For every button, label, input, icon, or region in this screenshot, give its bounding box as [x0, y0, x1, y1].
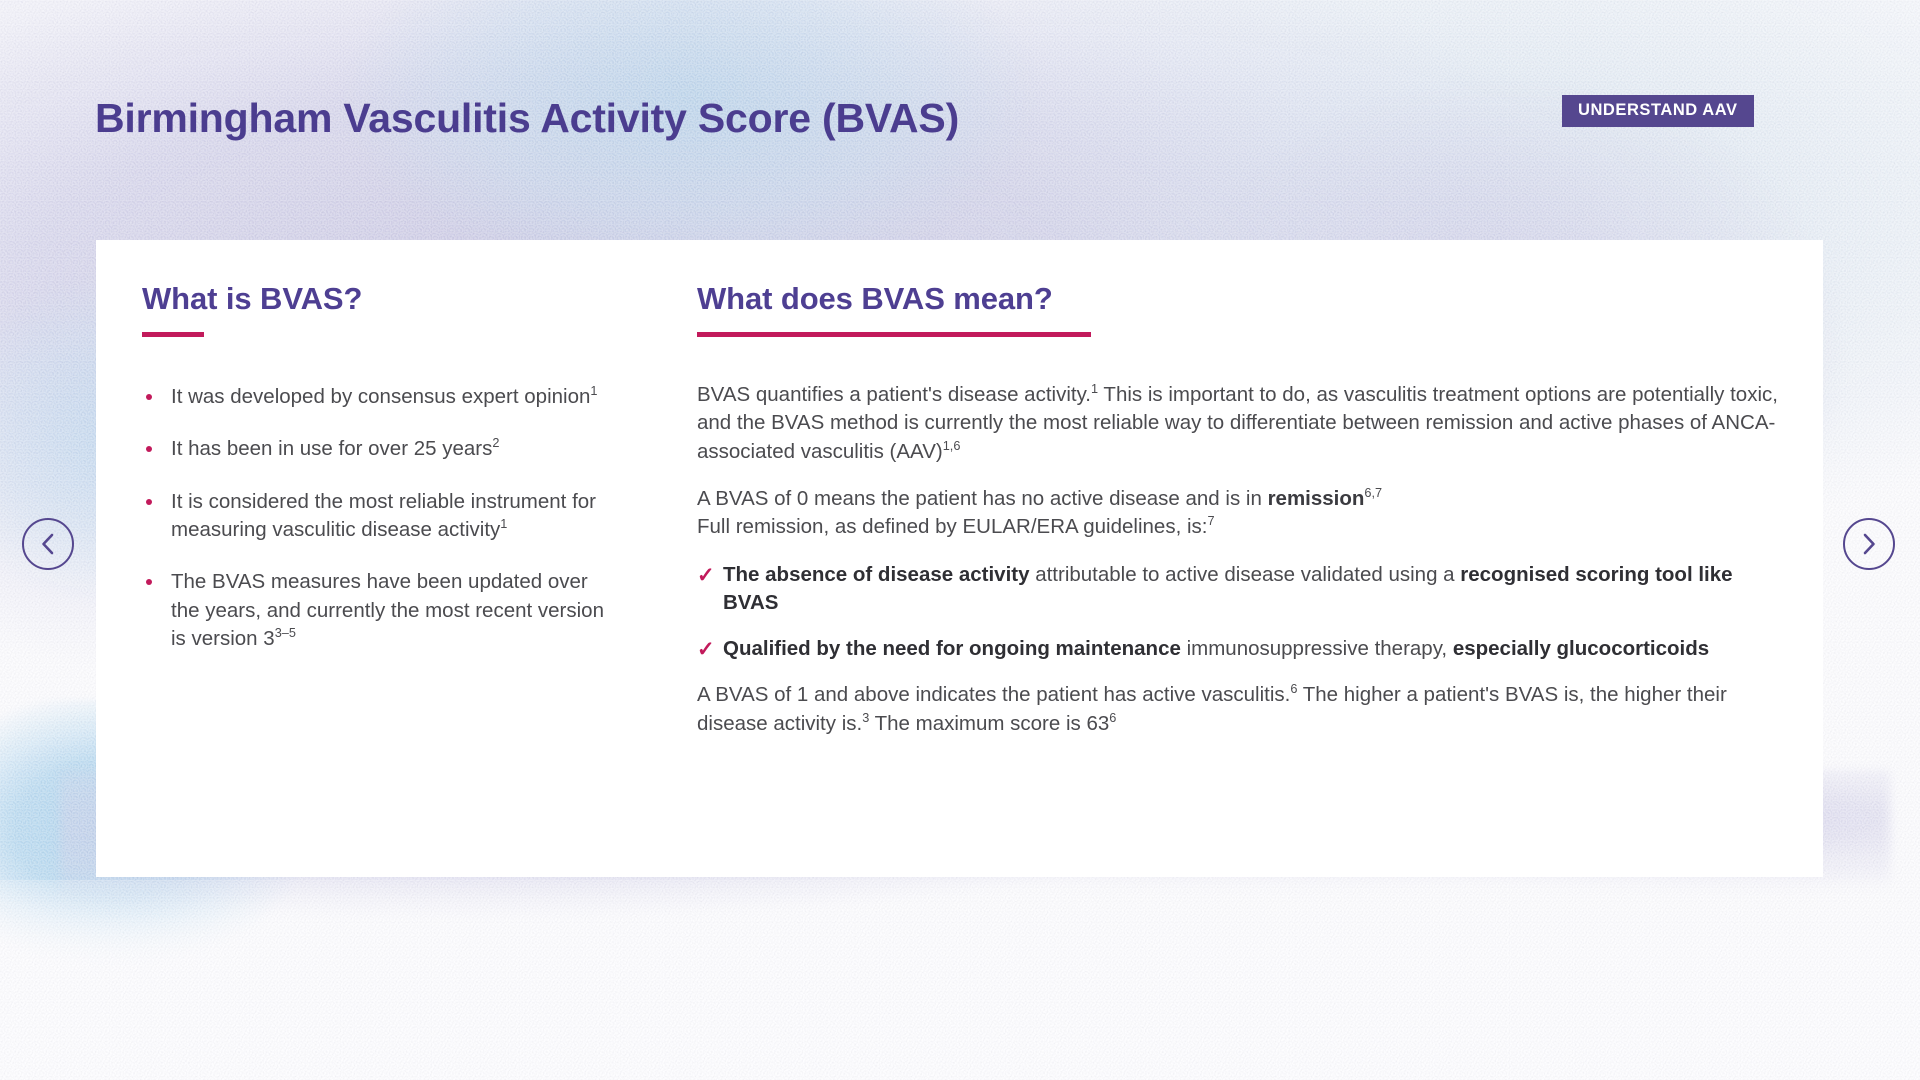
reference-superscript: 1,6	[943, 438, 961, 453]
previous-slide-button[interactable]	[22, 518, 74, 570]
chevron-right-icon	[1859, 532, 1879, 556]
chevron-left-icon	[38, 532, 58, 556]
paragraph-bvas-definition: BVAS quantifies a patient's disease acti…	[697, 381, 1787, 466]
list-item: It is considered the most reliable instr…	[142, 488, 612, 545]
paragraph-text-segment: Full remission, as defined by EULAR/ERA …	[697, 515, 1207, 538]
criteria-bold-lead: Qualified by the need for ongoing mainte…	[723, 637, 1181, 660]
list-item-text: It was developed by consensus expert opi…	[171, 385, 597, 408]
list-item: It has been in use for over 25 years2	[142, 435, 612, 463]
list-item-text: It has been in use for over 25 years2	[171, 437, 499, 460]
reference-superscript: 7	[1207, 513, 1214, 528]
reference-superscript: 1	[500, 516, 507, 531]
paragraph-text-segment: BVAS quantifies a patient's disease acti…	[697, 383, 1091, 406]
left-column-heading: What is BVAS?	[142, 282, 612, 316]
list-item: ✓Qualified by the need for ongoing maint…	[697, 635, 1787, 663]
left-column: What is BVAS? It was developed by consen…	[142, 282, 612, 653]
criteria-normal-text: immunosuppressive therapy,	[1181, 637, 1453, 660]
list-item: The BVAS measures have been updated over…	[142, 568, 612, 653]
reference-superscript: 1	[590, 383, 597, 398]
bvas-facts-list: It was developed by consensus expert opi…	[142, 383, 612, 653]
reference-superscript: 2	[492, 436, 499, 451]
left-heading-underline	[142, 332, 204, 337]
status-badge: UNDERSTAND AAV	[1562, 95, 1754, 127]
reference-superscript: 6	[1109, 710, 1116, 725]
paragraph-text-segment: A BVAS of 0 means the patient has no act…	[697, 487, 1268, 510]
content-card: What is BVAS? It was developed by consen…	[96, 240, 1823, 877]
list-item: ✓The absence of disease activity attribu…	[697, 561, 1787, 618]
list-item: It was developed by consensus expert opi…	[142, 383, 612, 411]
check-icon: ✓	[697, 562, 715, 590]
remission-criteria-list: ✓The absence of disease activity attribu…	[697, 561, 1787, 664]
paragraph-active-vasculitis: A BVAS of 1 and above indicates the pati…	[697, 681, 1787, 738]
page-title: Birmingham Vasculitis Activity Score (BV…	[95, 95, 959, 142]
criteria-bold-tail: especially glucocorticoids	[1453, 637, 1709, 660]
reference-superscript: 3–5	[275, 625, 296, 640]
list-item-text: The BVAS measures have been updated over…	[171, 570, 604, 650]
right-column: What does BVAS mean? BVAS quantifies a p…	[697, 282, 1787, 738]
check-icon: ✓	[697, 636, 715, 664]
right-column-heading: What does BVAS mean?	[697, 282, 1787, 316]
emphasis-remission: remission	[1268, 487, 1365, 510]
paragraph-text-segment: A BVAS of 1 and above indicates the pati…	[697, 683, 1290, 706]
background-bottom-fade	[0, 880, 1920, 1080]
criteria-normal-text: attributable to active disease validated…	[1030, 563, 1461, 586]
right-heading-underline	[697, 332, 1091, 337]
list-item-text: It is considered the most reliable instr…	[171, 490, 596, 541]
paragraph-text-segment: The maximum score is 63	[869, 712, 1109, 735]
next-slide-button[interactable]	[1843, 518, 1895, 570]
reference-superscript: 6,7	[1364, 485, 1382, 500]
criteria-bold-lead: The absence of disease activity	[723, 563, 1030, 586]
paragraph-remission: A BVAS of 0 means the patient has no act…	[697, 485, 1787, 542]
